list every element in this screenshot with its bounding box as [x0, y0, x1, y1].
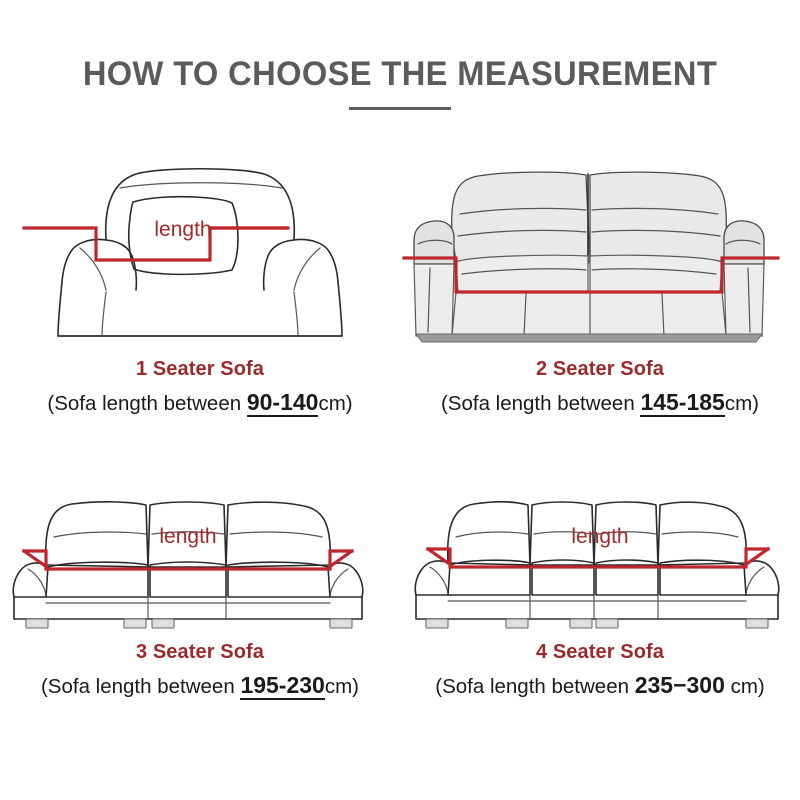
- seater-label-three: 3 Seater Sofa: [0, 640, 400, 664]
- three-seater-illustration: length: [0, 473, 400, 638]
- caption-three-seater: (Sofa length between 195-230cm): [0, 672, 400, 700]
- sofa-size-grid: length 1 Seater Sofa (Sofa length betwee…: [0, 140, 800, 700]
- caption-prefix-three: (Sofa length between: [41, 675, 240, 698]
- measure-value-three: 195-230: [240, 672, 324, 700]
- length-annotation-one-seater: length: [154, 218, 211, 241]
- caption-one-seater: (Sofa length between 90-140cm): [0, 389, 400, 417]
- four-seater-illustration: length: [400, 473, 800, 638]
- caption-four-seater: (Sofa length between 235−300 cm): [400, 672, 800, 700]
- seater-label-four: 4 Seater Sofa: [400, 640, 800, 664]
- caption-two-seater: (Sofa length between 145-185cm): [400, 389, 800, 417]
- page-header: HOW TO CHOOSE THE MEASUREMENT: [0, 54, 800, 110]
- length-annotation-four-seater: length: [571, 525, 628, 548]
- grid-row-top: length 1 Seater Sofa (Sofa length betwee…: [0, 140, 800, 417]
- caption-prefix-two: (Sofa length between: [441, 392, 640, 415]
- length-annotation-three-seater: length: [159, 525, 216, 548]
- caption-suffix-three: cm): [325, 675, 359, 698]
- caption-prefix-four: (Sofa length between: [435, 675, 634, 698]
- seater-label-two: 2 Seater Sofa: [400, 357, 800, 381]
- one-seater-illustration: length: [0, 140, 400, 355]
- grid-row-bottom: length 3 Seater Sofa (Sofa length betwee…: [0, 473, 800, 700]
- seater-label-one: 1 Seater Sofa: [0, 357, 400, 381]
- measure-value-one: 90-140: [247, 389, 319, 417]
- card-four-seater: length 4 Seater Sofa (Sofa length betwee…: [400, 473, 800, 700]
- caption-suffix-one: cm): [318, 392, 352, 415]
- card-three-seater: length 3 Seater Sofa (Sofa length betwee…: [0, 473, 400, 700]
- page-title: HOW TO CHOOSE THE MEASUREMENT: [16, 54, 784, 94]
- caption-suffix-four: cm): [725, 675, 765, 698]
- measure-value-four: 235−300: [635, 672, 725, 698]
- two-seater-illustration: [400, 140, 800, 355]
- card-two-seater: 2 Seater Sofa (Sofa length between 145-1…: [400, 140, 800, 417]
- card-one-seater: length 1 Seater Sofa (Sofa length betwee…: [0, 140, 400, 417]
- caption-prefix-one: (Sofa length between: [47, 392, 246, 415]
- measure-value-two: 145-185: [640, 389, 724, 417]
- measurement-guide-page: HOW TO CHOOSE THE MEASUREMENT: [0, 0, 800, 800]
- caption-suffix-two: cm): [725, 392, 759, 415]
- title-divider: [349, 107, 451, 110]
